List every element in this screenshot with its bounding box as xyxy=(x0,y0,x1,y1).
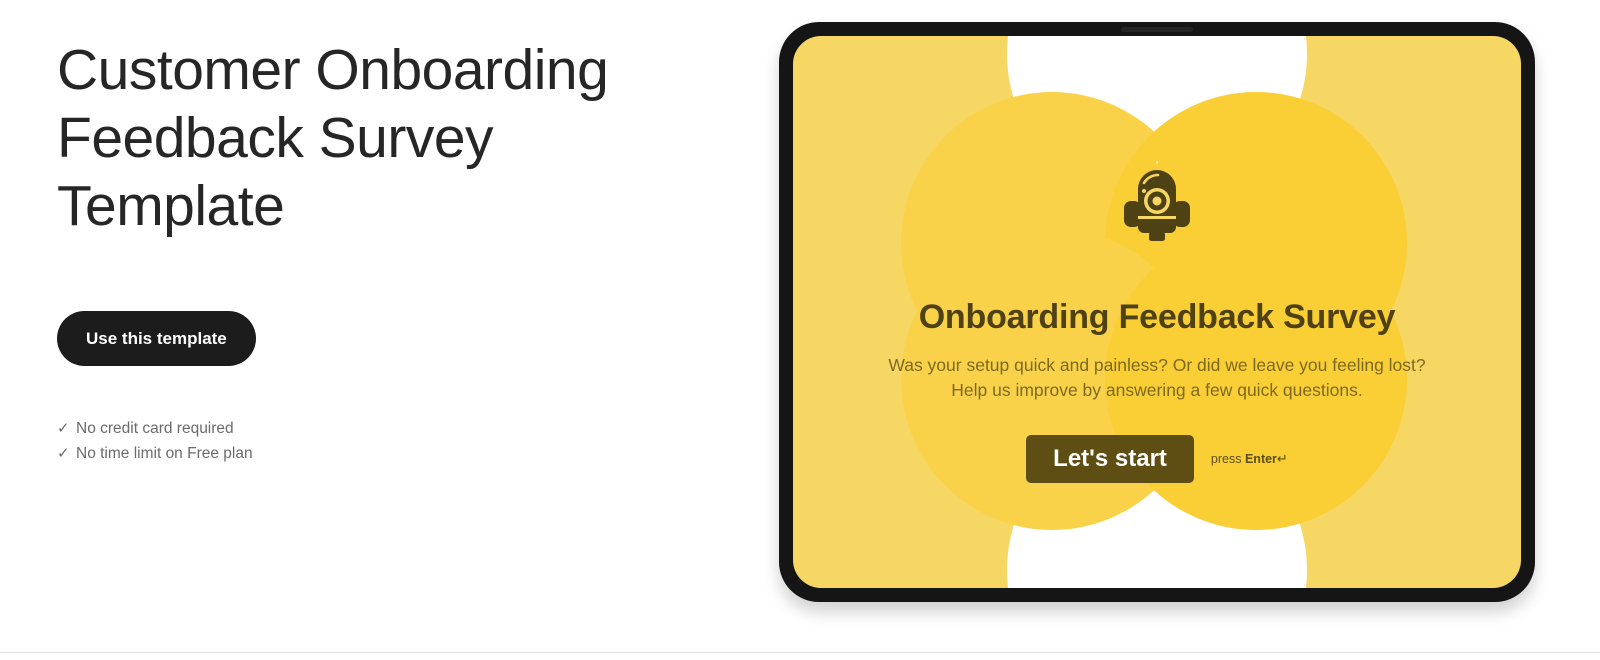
tablet-screen: Onboarding Feedback Survey Was your setu… xyxy=(793,36,1521,588)
hint-prefix: press xyxy=(1211,452,1245,466)
cta-wrapper: Use this template xyxy=(57,311,677,366)
press-enter-hint: press Enter↵ xyxy=(1211,451,1288,467)
marketing-column: Customer Onboarding Feedback Survey Temp… xyxy=(57,36,677,466)
perk-label: No time limit on Free plan xyxy=(76,441,253,466)
rocket-icon xyxy=(1120,161,1194,246)
survey-subtitle: Was your setup quick and painless? Or di… xyxy=(888,353,1425,403)
lets-start-button[interactable]: Let's start xyxy=(1026,435,1194,483)
list-item: ✓ No time limit on Free plan xyxy=(57,441,677,466)
perks-list: ✓ No credit card required ✓ No time limi… xyxy=(57,416,677,466)
start-row: Let's start press Enter↵ xyxy=(1026,435,1288,483)
hint-key: Enter xyxy=(1245,452,1277,466)
tablet-device-mockup: Onboarding Feedback Survey Was your setu… xyxy=(779,22,1535,602)
page-title: Customer Onboarding Feedback Survey Temp… xyxy=(57,36,677,240)
check-icon: ✓ xyxy=(57,416,69,441)
camera-speaker-icon xyxy=(1121,27,1193,32)
list-item: ✓ No credit card required xyxy=(57,416,677,441)
survey-title: Onboarding Feedback Survey xyxy=(919,298,1396,337)
enter-return-icon: ↵ xyxy=(1277,451,1288,466)
survey-welcome-screen: Onboarding Feedback Survey Was your setu… xyxy=(793,36,1521,588)
check-icon: ✓ xyxy=(57,441,69,466)
perk-label: No credit card required xyxy=(76,416,234,441)
page-divider xyxy=(0,652,1600,653)
use-this-template-button[interactable]: Use this template xyxy=(57,311,256,366)
